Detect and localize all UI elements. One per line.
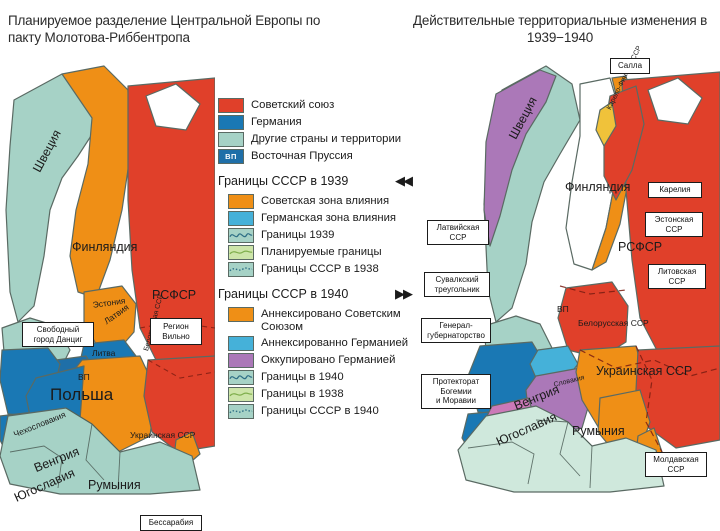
callout-moldavian-ssr: Молдавская ССР xyxy=(645,452,707,477)
legend-item: Германия xyxy=(218,115,433,130)
infographic-root: Планируемое разделение Центральной Европ… xyxy=(0,0,720,495)
legend-item-label: Советский союз xyxy=(251,98,334,112)
legend-item-label: Аннексировано Советским Союзом xyxy=(261,307,433,334)
legend-swatch-solid: ВП xyxy=(218,149,244,164)
legend-item: Планируемые границы xyxy=(218,245,433,260)
legend-item: ВПВосточная Пруссия xyxy=(218,149,433,164)
legend-item: Аннексировано Советским Союзом xyxy=(218,307,433,334)
legend-arrows-icon: ◀◀ xyxy=(395,173,411,189)
legend-item: Границы СССР в 1940 xyxy=(218,404,433,419)
callout-salla: Салла xyxy=(610,58,650,74)
legend-item: Другие страны и территории xyxy=(218,132,433,147)
callout-suwalki-triangle: Сувалкский треугольник xyxy=(424,272,490,297)
legend-item: Советская зона влияния xyxy=(218,194,433,209)
legend-item-label: Границы в 1938 xyxy=(261,387,344,401)
callout-vilno: Регион Вильно xyxy=(150,318,202,345)
callout-latvian-ssr: Латвийская ССР xyxy=(427,220,489,245)
legend-item-label: Границы 1939 xyxy=(261,228,334,242)
legend-swatch-solid xyxy=(228,307,254,322)
legend-swatch-dots xyxy=(228,404,254,419)
legend-item: Аннексированно Германией xyxy=(218,336,433,351)
legend-item-label: Восточная Пруссия xyxy=(251,149,353,163)
right-map-title: Действительные территориальные изменения… xyxy=(410,12,710,46)
legend-swatch-solid xyxy=(218,98,244,113)
legend-item-label: Планируемые границы xyxy=(261,245,382,259)
legend-swatch-solid xyxy=(228,194,254,209)
legend-item: Границы 1939 xyxy=(218,228,433,243)
legend-item-label: Границы СССР в 1940 xyxy=(261,404,379,418)
legend-item: Германская зона влияния xyxy=(218,211,433,226)
legend-item-label: Германия xyxy=(251,115,302,129)
callout-lithuanian-ssr: Литовская ССР xyxy=(648,264,706,289)
legend-swatch-line xyxy=(228,245,254,260)
callout-danzig: Свободный город Данциг xyxy=(22,322,94,347)
legend-swatch-solid xyxy=(218,115,244,130)
legend-swatch-text: ВП xyxy=(219,150,243,163)
legend-item-label: Границы в 1940 xyxy=(261,370,344,384)
legend: Советский союзГерманияДругие страны и те… xyxy=(218,98,433,421)
map-planned-partition xyxy=(0,60,215,495)
legend-heading-text: Границы СССР в 1939 xyxy=(218,174,348,188)
legend-item-label: Другие страны и территории xyxy=(251,132,401,146)
legend-swatch-solid xyxy=(228,211,254,226)
left-map-graphic xyxy=(0,60,215,495)
legend-swatch-line xyxy=(228,387,254,402)
legend-item-label: Аннексированно Германией xyxy=(261,336,408,350)
callout-estonian-ssr: Эстонская ССР xyxy=(645,212,703,237)
legend-item: Границы СССР в 1938 xyxy=(218,262,433,277)
legend-heading: Границы СССР в 1940▶▶ xyxy=(218,286,433,302)
left-map-title: Планируемое разделение Центральной Европ… xyxy=(8,12,338,46)
legend-item: Границы в 1940 xyxy=(218,370,433,385)
legend-heading-text: Границы СССР в 1940 xyxy=(218,287,348,301)
legend-heading: Границы СССР в 1939◀◀ xyxy=(218,173,433,189)
legend-swatch-wave xyxy=(228,370,254,385)
legend-item: Оккупировано Германией xyxy=(218,353,433,368)
legend-item: Границы в 1938 xyxy=(218,387,433,402)
legend-item: Советский союз xyxy=(218,98,433,113)
callout-bessarabia: Бессарабия xyxy=(140,515,202,531)
legend-swatch-solid xyxy=(228,353,254,368)
legend-swatch-wave xyxy=(228,228,254,243)
legend-item-label: Советская зона влияния xyxy=(261,194,389,208)
legend-item-label: Границы СССР в 1938 xyxy=(261,262,379,276)
legend-arrows-icon: ▶▶ xyxy=(395,286,411,302)
callout-karelia: Карелия xyxy=(648,182,702,198)
legend-swatch-solid xyxy=(228,336,254,351)
legend-swatch-solid xyxy=(218,132,244,147)
legend-item-label: Германская зона влияния xyxy=(261,211,396,225)
legend-swatch-dots xyxy=(228,262,254,277)
legend-item-label: Оккупировано Германией xyxy=(261,353,395,367)
